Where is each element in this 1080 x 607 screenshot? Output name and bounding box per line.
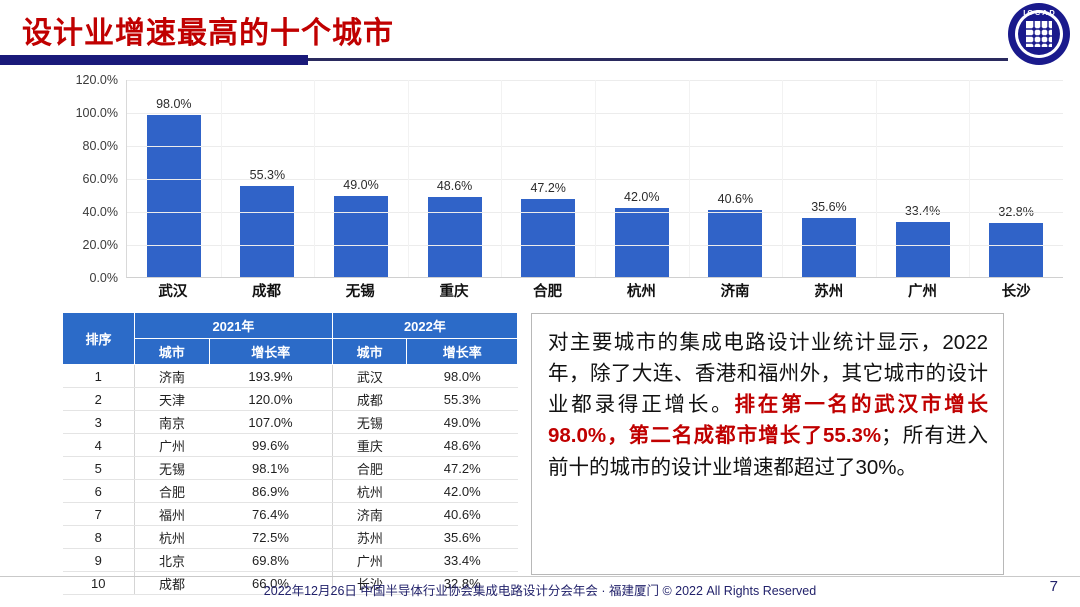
title-rule — [308, 58, 1008, 61]
table-cell-city-2021: 济南 — [135, 365, 210, 388]
table-cell-city-2022: 成都 — [332, 388, 407, 411]
table-cell-city-2021: 广州 — [135, 434, 210, 457]
x-axis-category-label: 广州 — [876, 280, 970, 301]
table-cell-city-2022: 武汉 — [332, 365, 407, 388]
chart-bar[interactable] — [708, 210, 762, 277]
chart-category-divider — [969, 80, 970, 277]
table-cell-rank: 6 — [63, 480, 135, 503]
footer-divider — [0, 576, 1080, 577]
chart-bar[interactable] — [240, 186, 294, 277]
table-cell-growth-2021: 86.9% — [209, 480, 332, 503]
x-axis-category-label: 成都 — [220, 280, 314, 301]
table-cell-growth-2021: 98.1% — [209, 457, 332, 480]
table-header-city-2021: 城市 — [135, 339, 210, 365]
table-cell-rank: 5 — [63, 457, 135, 480]
x-axis-category-label: 合肥 — [501, 280, 595, 301]
y-axis-tick: 20.0% — [83, 238, 118, 252]
chart-bar-value-label: 33.4% — [905, 204, 940, 218]
table-cell-growth-2022: 35.6% — [407, 526, 518, 549]
chart-bar-value-label: 47.2% — [530, 181, 565, 195]
x-axis-category-label: 济南 — [688, 280, 782, 301]
y-axis-tick: 120.0% — [76, 73, 118, 87]
page-title: 设计业增速最高的十个城市 — [22, 8, 394, 52]
table-cell-growth-2021: 69.8% — [209, 549, 332, 572]
table-row: 6合肥86.9%杭州42.0% — [63, 480, 518, 503]
table-cell-rank: 3 — [63, 411, 135, 434]
table-cell-rank: 4 — [63, 434, 135, 457]
chart-category-divider — [782, 80, 783, 277]
table-cell-growth-2021: 99.6% — [209, 434, 332, 457]
y-axis-tick: 60.0% — [83, 172, 118, 186]
table-row: 1济南193.9%武汉98.0% — [63, 365, 518, 388]
chart-bar-value-label: 48.6% — [437, 179, 472, 193]
table-cell-city-2021: 天津 — [135, 388, 210, 411]
table-row: 5无锡98.1%合肥47.2% — [63, 457, 518, 480]
chart-category-divider — [408, 80, 409, 277]
chart-bar-value-label: 49.0% — [343, 178, 378, 192]
table-cell-growth-2021: 76.4% — [209, 503, 332, 526]
table-cell-growth-2022: 55.3% — [407, 388, 518, 411]
table-cell-rank: 8 — [63, 526, 135, 549]
table-cell-rank: 7 — [63, 503, 135, 526]
table-cell-city-2022: 广州 — [332, 549, 407, 572]
chart-bar[interactable] — [802, 218, 856, 277]
chart-bar-value-label: 98.0% — [156, 97, 191, 111]
chart-category-divider — [501, 80, 502, 277]
y-axis-tick: 40.0% — [83, 205, 118, 219]
table-header-rank: 排序 — [63, 313, 135, 365]
chart-bar[interactable] — [147, 115, 201, 277]
chart-bar[interactable] — [521, 199, 575, 277]
table-cell-growth-2021: 107.0% — [209, 411, 332, 434]
growth-bar-chart: 120.0%100.0%80.0%60.0%40.0%20.0%0.0% 98.… — [58, 72, 1063, 300]
table-row: 8杭州72.5%苏州35.6% — [63, 526, 518, 549]
table-cell-growth-2022: 47.2% — [407, 457, 518, 480]
chart-bar[interactable] — [896, 222, 950, 277]
table-cell-growth-2021: 193.9% — [209, 365, 332, 388]
chart-category-divider — [689, 80, 690, 277]
slide: 设计业增速最高的十个城市 I C C A D — [0, 0, 1080, 607]
chart-bar[interactable] — [334, 196, 388, 277]
table-cell-growth-2022: 48.6% — [407, 434, 518, 457]
table-cell-city-2022: 重庆 — [332, 434, 407, 457]
x-axis-category-label: 无锡 — [313, 280, 407, 301]
table-body: 1济南193.9%武汉98.0%2天津120.0%成都55.3%3南京107.0… — [63, 365, 518, 595]
x-axis-category-label: 武汉 — [126, 280, 220, 301]
growth-ranking-table: 排序 2021年 2022年 城市 增长率 城市 增长率 1济南193.9%武汉… — [62, 312, 518, 595]
y-axis-tick: 80.0% — [83, 139, 118, 153]
table-cell-city-2021: 福州 — [135, 503, 210, 526]
chart-bar[interactable] — [615, 208, 669, 277]
table-cell-city-2022: 济南 — [332, 503, 407, 526]
y-axis-tick: 100.0% — [76, 106, 118, 120]
table-header-growth-2021: 增长率 — [209, 339, 332, 365]
table-header-row-groups: 排序 2021年 2022年 — [63, 313, 518, 339]
chart-plot-area: 98.0%55.3%49.0%48.6%47.2%42.0%40.6%35.6%… — [126, 80, 1063, 278]
table-cell-city-2022: 合肥 — [332, 457, 407, 480]
table-cell-rank: 2 — [63, 388, 135, 411]
table-row: 7福州76.4%济南40.6% — [63, 503, 518, 526]
table-cell-growth-2022: 49.0% — [407, 411, 518, 434]
chart-category-divider — [221, 80, 222, 277]
table-head: 排序 2021年 2022年 城市 增长率 城市 增长率 — [63, 313, 518, 365]
table-cell-growth-2021: 120.0% — [209, 388, 332, 411]
table-row: 3南京107.0%无锡49.0% — [63, 411, 518, 434]
table-cell-growth-2022: 98.0% — [407, 365, 518, 388]
table-row: 9北京69.8%广州33.4% — [63, 549, 518, 572]
x-axis-category-label: 重庆 — [407, 280, 501, 301]
table-header-group-2021: 2021年 — [135, 313, 333, 339]
chart-category-divider — [314, 80, 315, 277]
chart-category-divider — [876, 80, 877, 277]
summary-callout-text: 对主要城市的集成电路设计业统计显示，2022年，除了大连、香港和福州外，其它城市… — [548, 327, 988, 483]
table-cell-growth-2022: 42.0% — [407, 480, 518, 503]
table-row: 2天津120.0%成都55.3% — [63, 388, 518, 411]
table-cell-growth-2021: 72.5% — [209, 526, 332, 549]
table-cell-city-2021: 北京 — [135, 549, 210, 572]
chart-y-axis: 120.0%100.0%80.0%60.0%40.0%20.0%0.0% — [58, 72, 124, 272]
chart-bar-value-label: 40.6% — [718, 192, 753, 206]
x-axis-category-label: 长沙 — [969, 280, 1063, 301]
table-cell-city-2021: 合肥 — [135, 480, 210, 503]
title-accent-bar — [0, 55, 308, 65]
y-axis-tick: 0.0% — [90, 271, 119, 285]
chart-category-divider — [595, 80, 596, 277]
table-cell-city-2022: 无锡 — [332, 411, 407, 434]
table-cell-city-2022: 苏州 — [332, 526, 407, 549]
table-row: 4广州99.6%重庆48.6% — [63, 434, 518, 457]
table-cell-growth-2022: 40.6% — [407, 503, 518, 526]
footer-text: 2022年12月26日 中国半导体行业协会集成电路设计分会年会 · 福建厦门 ©… — [0, 580, 1080, 599]
chart-x-axis: 武汉成都无锡重庆合肥杭州济南苏州广州长沙 — [126, 280, 1063, 301]
table-cell-rank: 9 — [63, 549, 135, 572]
chart-bar[interactable] — [428, 197, 482, 277]
table-header-city-2022: 城市 — [332, 339, 407, 365]
table-cell-growth-2022: 33.4% — [407, 549, 518, 572]
chart-bar[interactable] — [989, 223, 1043, 277]
chart-bar-value-label: 42.0% — [624, 190, 659, 204]
page-number: 7 — [1050, 578, 1058, 595]
table-cell-rank: 1 — [63, 365, 135, 388]
iccad-logo-icon: I C C A D — [1008, 3, 1070, 65]
table-cell-city-2022: 杭州 — [332, 480, 407, 503]
table-cell-city-2021: 南京 — [135, 411, 210, 434]
table-cell-city-2021: 杭州 — [135, 526, 210, 549]
x-axis-category-label: 杭州 — [595, 280, 689, 301]
table-header-growth-2022: 增长率 — [407, 339, 518, 365]
summary-callout: 对主要城市的集成电路设计业统计显示，2022年，除了大连、香港和福州外，其它城市… — [531, 313, 1004, 575]
table-header-group-2022: 2022年 — [332, 313, 517, 339]
svg-text:I C C A D: I C C A D — [1023, 8, 1055, 17]
x-axis-category-label: 苏州 — [782, 280, 876, 301]
table-cell-city-2021: 无锡 — [135, 457, 210, 480]
